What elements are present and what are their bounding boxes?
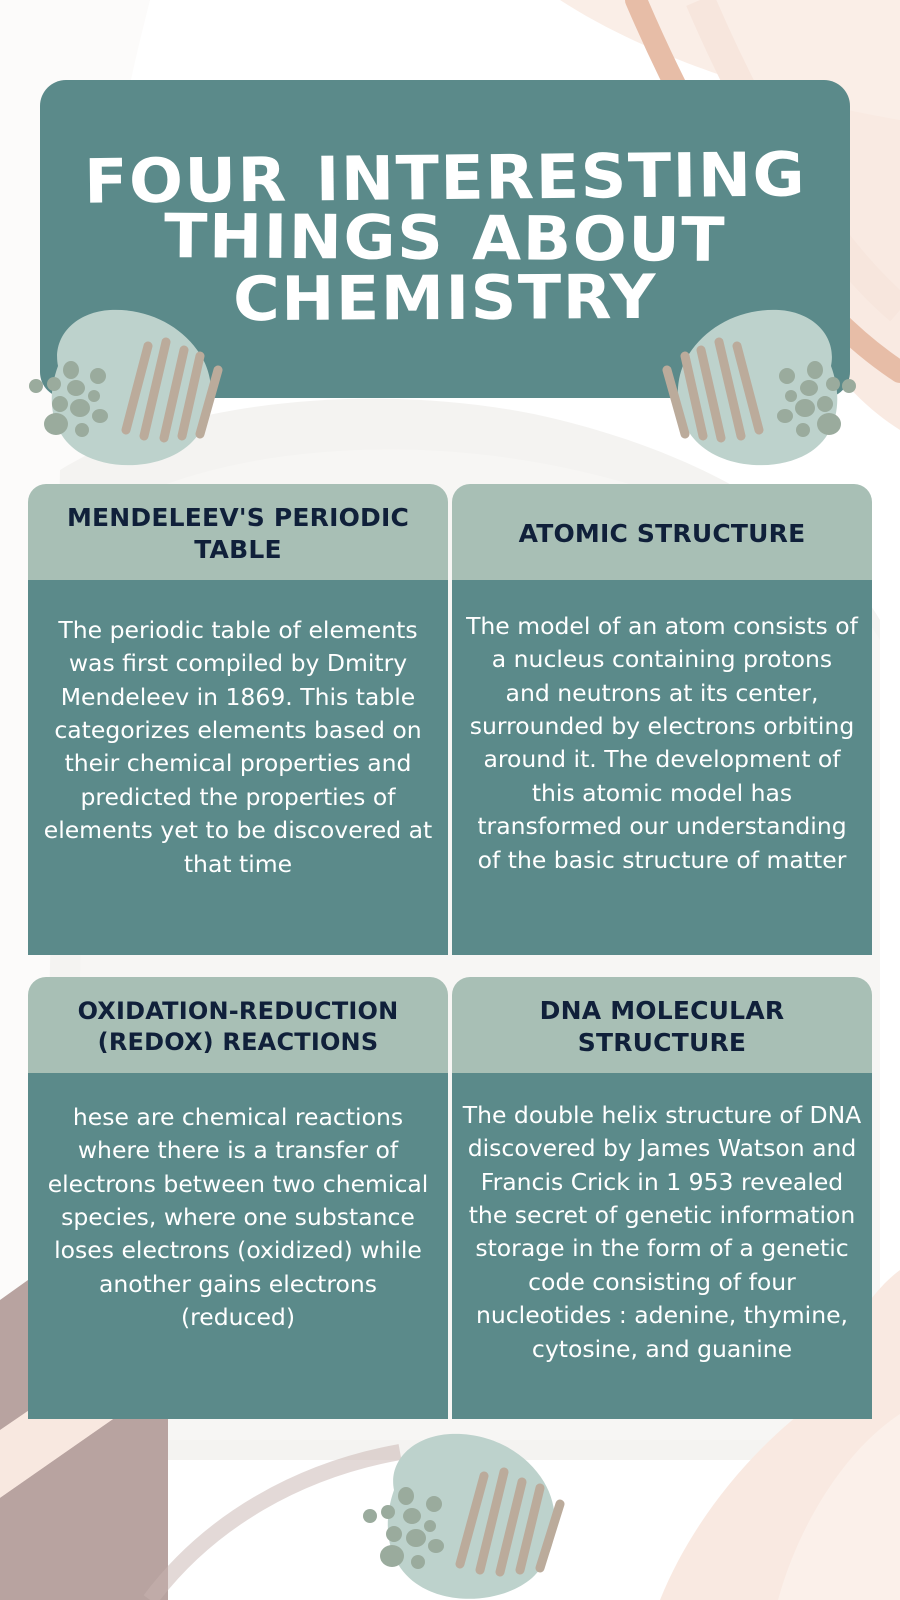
- title-line-2: THINGS ABOUT: [84, 207, 806, 272]
- fact-card-body-atomic: The model of an atom consists of a nucle…: [452, 580, 872, 955]
- fact-card-atomic: ATOMIC STRUCTURE The model of an atom co…: [452, 484, 872, 955]
- facts-card-grid: MENDELEEV'S PERIODIC TABLE The periodic …: [28, 484, 872, 1419]
- fact-card-dna: DNA MOLECULAR STRUCTURE The double helix…: [452, 977, 872, 1419]
- mauve-arc-bottom: [150, 1452, 400, 1600]
- mauve-band-bottom-left-lower: [0, 1392, 168, 1600]
- title-line-3: CHEMISTRY: [84, 267, 806, 330]
- fact-card-redox: OXIDATION-REDUCTION (REDOX) REACTIONS he…: [28, 977, 448, 1419]
- fact-card-header-mendeleev: MENDELEEV'S PERIODIC TABLE: [28, 484, 448, 580]
- leaf-cluster-bottom-icon: [348, 1424, 583, 1600]
- fact-card-body-dna: The double helix structure of DNA discov…: [452, 1073, 872, 1419]
- fact-card-header-atomic: ATOMIC STRUCTURE: [452, 484, 872, 580]
- fact-card-body-redox: hese are chemical reactions where there …: [28, 1073, 448, 1419]
- poster-title-card: FOUR INTERESTING THINGS ABOUT CHEMISTRY: [40, 80, 850, 398]
- page-title: FOUR INTERESTING THINGS ABOUT CHEMISTRY: [57, 149, 833, 328]
- blush-shape-bottom-right-inner: [778, 1414, 900, 1600]
- fact-card-header-redox: OXIDATION-REDUCTION (REDOX) REACTIONS: [28, 977, 448, 1073]
- infographic-poster: FOUR INTERESTING THINGS ABOUT CHEMISTRY: [0, 0, 900, 1600]
- fact-card-header-dna: DNA MOLECULAR STRUCTURE: [452, 977, 872, 1073]
- fact-card-mendeleev: MENDELEEV'S PERIODIC TABLE The periodic …: [28, 484, 448, 955]
- fact-card-body-mendeleev: The periodic table of elements was first…: [28, 580, 448, 955]
